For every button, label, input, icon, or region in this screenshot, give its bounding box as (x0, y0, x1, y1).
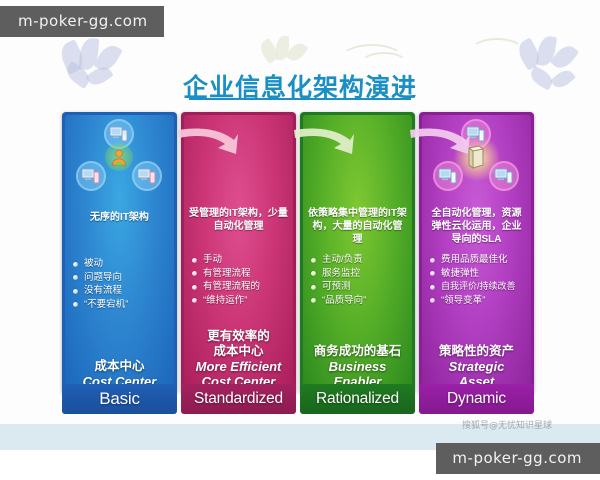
maturity-columns: 无序的IT架构 被动 问题导向 没有流程 “不要宕机” 成本中心 Cost Ce… (62, 112, 538, 412)
list-item: 问题导向 (73, 271, 170, 285)
summary-cn: 商务成功的基石 (303, 344, 412, 359)
column-summary: 策略性的资产 Strategic Asset (419, 344, 534, 389)
column-heading: 全自动化管理，资源弹性云化运用，企业导向的SLA (422, 207, 531, 247)
list-item: 服务监控 (311, 267, 408, 281)
stage-label-text: Standardized (194, 390, 283, 408)
column-summary: 更有效率的 成本中心 More Efficient Cost Center (181, 329, 296, 389)
column-basic[interactable]: 无序的IT架构 被动 问题导向 没有流程 “不要宕机” 成本中心 Cost Ce… (62, 112, 177, 394)
computer-icon (76, 161, 106, 191)
summary-cn: 策略性的资产 (422, 344, 531, 359)
slide-canvas: 企业信息化架构演进 (0, 0, 600, 480)
column-bullets: 手动 有管理流程 有管理流程的 “维持运作” (184, 253, 293, 307)
list-item: 没有流程 (73, 284, 170, 298)
stage-label-rationalized[interactable]: Rationalized (300, 384, 415, 414)
stage-labels: Basic Standardized Rationalized Dynamic (62, 384, 538, 414)
column-bullets: 费用品质最佳化 敏捷弹性 自我评价/持续改善 “领导变革” (422, 253, 531, 307)
list-item: 自我评价/持续改善 (430, 280, 527, 294)
list-item: “品质导向” (311, 294, 408, 308)
list-item: 手动 (192, 253, 289, 267)
list-item: 主动/负责 (311, 253, 408, 267)
server-icon (462, 143, 490, 171)
column-heading: 依策略集中管理的IT架构，大量的自动化管理 (303, 207, 412, 247)
icon-cluster-standardized (186, 117, 291, 205)
user-icon (105, 143, 133, 171)
computer-icon (132, 161, 162, 191)
stage-label-text: Dynamic (447, 390, 506, 408)
stage-label-standardized[interactable]: Standardized (181, 384, 296, 414)
watermark-badge-top: m-poker-gg.com (0, 6, 164, 37)
icon-cluster-basic (67, 117, 172, 205)
summary-cn: 成本中心 (65, 359, 174, 374)
computer-icon (489, 161, 519, 191)
column-heading: 无序的IT架构 (85, 211, 154, 251)
column-heading: 受管理的IT架构，少量自动化管理 (184, 207, 293, 247)
list-item: 费用品质最佳化 (430, 253, 527, 267)
column-rationalized[interactable]: 依策略集中管理的IT架构，大量的自动化管理 主动/负责 服务监控 可预测 “品质… (300, 112, 415, 394)
column-standardized[interactable]: 受管理的IT架构，少量自动化管理 手动 有管理流程 有管理流程的 “维持运作” … (181, 112, 296, 394)
stage-label-dynamic[interactable]: Dynamic (419, 384, 534, 414)
list-item: 可预测 (311, 280, 408, 294)
source-watermark: 搜狐号@无忧知识星球 (462, 418, 552, 431)
icon-cluster-dynamic (424, 117, 529, 205)
watermark-badge-bottom: m-poker-gg.com (436, 443, 600, 474)
list-item: 有管理流程 (192, 267, 289, 281)
title-underline (189, 98, 411, 100)
icon-cluster-rationalized (305, 117, 410, 205)
column-bullets: 被动 问题导向 没有流程 “不要宕机” (65, 257, 174, 311)
stage-label-basic[interactable]: Basic (62, 384, 177, 414)
list-item: “不要宕机” (73, 298, 170, 312)
list-item: 被动 (73, 257, 170, 271)
stage-label-text: Rationalized (316, 390, 399, 408)
list-item: “维持运作” (192, 294, 289, 308)
column-summary: 商务成功的基石 Business Enabler (300, 344, 415, 389)
computer-icon (433, 161, 463, 191)
column-dynamic[interactable]: 全自动化管理，资源弹性云化运用，企业导向的SLA 费用品质最佳化 敏捷弹性 自我… (419, 112, 534, 394)
list-item: 敏捷弹性 (430, 267, 527, 281)
stage-label-text: Basic (99, 389, 140, 409)
list-item: “领导变革” (430, 294, 527, 308)
column-bullets: 主动/负责 服务监控 可预测 “品质导向” (303, 253, 412, 307)
list-item: 有管理流程的 (192, 280, 289, 294)
summary-cn: 更有效率的 成本中心 (184, 329, 293, 359)
